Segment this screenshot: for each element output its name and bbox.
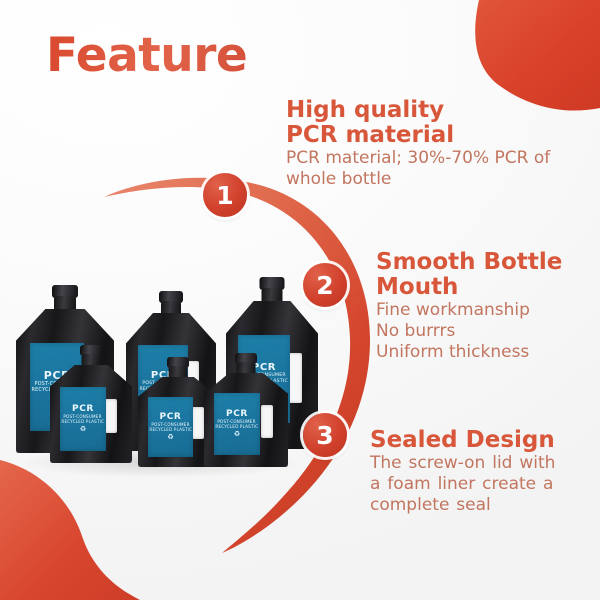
step-number-2-label: 2 — [316, 271, 333, 300]
label-line2: RECYCLED PLASTIC — [216, 424, 259, 429]
feature-2-heading-line2: Mouth — [376, 274, 458, 300]
feature-1-body-line2: whole bottle — [286, 169, 391, 189]
feature-3-body-line1: The screw-on lid with — [370, 453, 555, 473]
top-right-red-shape — [475, 0, 600, 111]
bottle-front-right: PCR POST-CONSUMER RECYCLED PLASTIC ♻ — [204, 353, 288, 467]
feature-3-heading: Sealed Design — [370, 428, 590, 453]
bottle-label: PCR POST-CONSUMER RECYCLED PLASTIC ♻ — [148, 397, 193, 457]
feature-2-body-line3: Uniform thickness — [376, 342, 529, 362]
recycle-icon: ♻ — [167, 434, 173, 441]
product-image: PCR POST-CONSUMER RECYCLED PLASTIC ♻ PCR… — [8, 255, 308, 470]
feature-1-heading: High quality PCR material — [286, 98, 586, 148]
step-number-2[interactable]: 2 — [303, 263, 347, 307]
label-brand: PCR — [226, 410, 248, 419]
bottle-handle — [105, 399, 117, 433]
feature-1-heading-line2: PCR material — [286, 122, 454, 148]
bottle-handle — [192, 407, 204, 439]
feature-block-2: Smooth Bottle Mouth Fine workmanship No … — [376, 250, 591, 363]
label-brand: PCR — [160, 413, 182, 422]
feature-block-1: High quality PCR material PCR material; … — [286, 98, 586, 190]
feature-2-body-line2: No burrrs — [376, 321, 455, 341]
feature-2-body: Fine workmanship No burrrs Uniform thick… — [376, 300, 591, 363]
bottle-handle — [261, 405, 273, 438]
feature-1-body: PCR material; 30%-70% PCR of whole bottl… — [286, 148, 586, 190]
label-line2: RECYCLED PLASTIC — [149, 427, 192, 432]
bottle-front-left: PCR POST-CONSUMER RECYCLED PLASTIC ♻ — [50, 345, 132, 463]
page-title: Feature — [46, 32, 247, 79]
feature-3-body-line2: a foam liner create a — [370, 474, 553, 494]
step-number-1[interactable]: 1 — [203, 173, 247, 217]
label-line2: RECYCLED PLASTIC — [62, 419, 105, 424]
feature-3-body-line3: complete seal — [370, 495, 491, 515]
feature-2-body-line1: Fine workmanship — [376, 300, 530, 320]
step-number-3-label: 3 — [316, 421, 333, 450]
bottle-handle — [288, 353, 302, 403]
recycle-icon: ♻ — [234, 431, 240, 438]
bottle-label: PCR POST-CONSUMER RECYCLED PLASTIC ♻ — [60, 387, 106, 451]
bottom-left-red-shape — [0, 460, 140, 600]
recycle-icon: ♻ — [80, 426, 86, 433]
feature-2-heading-line1: Smooth Bottle — [376, 249, 562, 275]
label-brand: PCR — [72, 405, 94, 414]
step-number-1-label: 1 — [216, 181, 233, 210]
feature-2-heading: Smooth Bottle Mouth — [376, 250, 591, 300]
feature-infographic: Feature PCR POST-CONSUMER RECYCLED PLAST… — [0, 0, 600, 600]
step-number-3[interactable]: 3 — [303, 413, 347, 457]
feature-1-heading-line1: High quality — [286, 97, 444, 123]
feature-3-body: The screw-on lid with a foam liner creat… — [370, 453, 590, 516]
feature-3-heading-line1: Sealed Design — [370, 427, 555, 453]
bottle-label: PCR POST-CONSUMER RECYCLED PLASTIC ♻ — [214, 393, 260, 455]
feature-1-body-line1: PCR material; 30%-70% PCR of — [286, 148, 550, 168]
feature-block-3: Sealed Design The screw-on lid with a fo… — [370, 428, 590, 516]
